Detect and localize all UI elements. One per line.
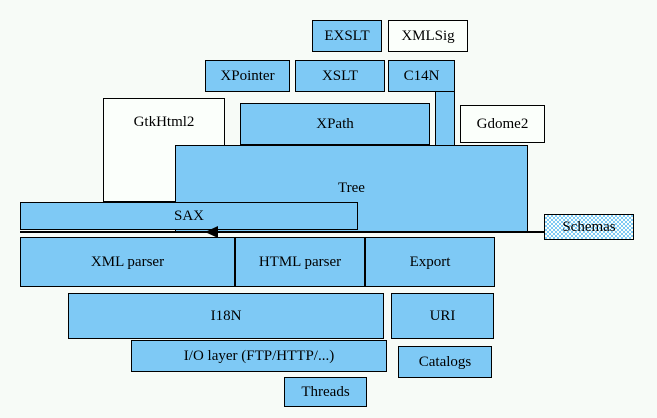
connector-schemas-to-sax-line [20,231,544,233]
node-html-parser[interactable]: HTML parser [235,237,365,287]
node-export[interactable]: Export [365,237,495,287]
node-xslt[interactable]: XSLT [295,60,385,92]
node-uri[interactable]: URI [391,293,494,339]
node-xml-parser[interactable]: XML parser [20,237,235,287]
node-xmlsig[interactable]: XMLSig [388,20,468,52]
node-sax[interactable]: SAX [20,202,358,230]
node-io-layer[interactable]: I/O layer (FTP/HTTP/...) [131,340,387,372]
node-xpath[interactable]: XPath [240,103,430,145]
node-gtkhtml2-seam [104,145,175,147]
node-gtkhtml2-stem [103,146,176,202]
node-gtkhtml2[interactable]: GtkHtml2 [103,98,225,146]
node-threads[interactable]: Threads [284,377,367,407]
architecture-diagram: EXSLT XMLSig XPointer XSLT C14N GtkHtml2… [0,0,657,418]
node-i18n[interactable]: I18N [68,293,384,339]
node-gdome2[interactable]: Gdome2 [460,105,545,143]
connector-c14n-to-tree [435,91,455,147]
node-exslt[interactable]: EXSLT [312,20,382,52]
node-schemas[interactable]: Schemas [544,214,634,240]
node-c14n[interactable]: C14N [388,60,455,92]
node-catalogs[interactable]: Catalogs [398,346,492,378]
node-xpointer[interactable]: XPointer [205,60,290,92]
